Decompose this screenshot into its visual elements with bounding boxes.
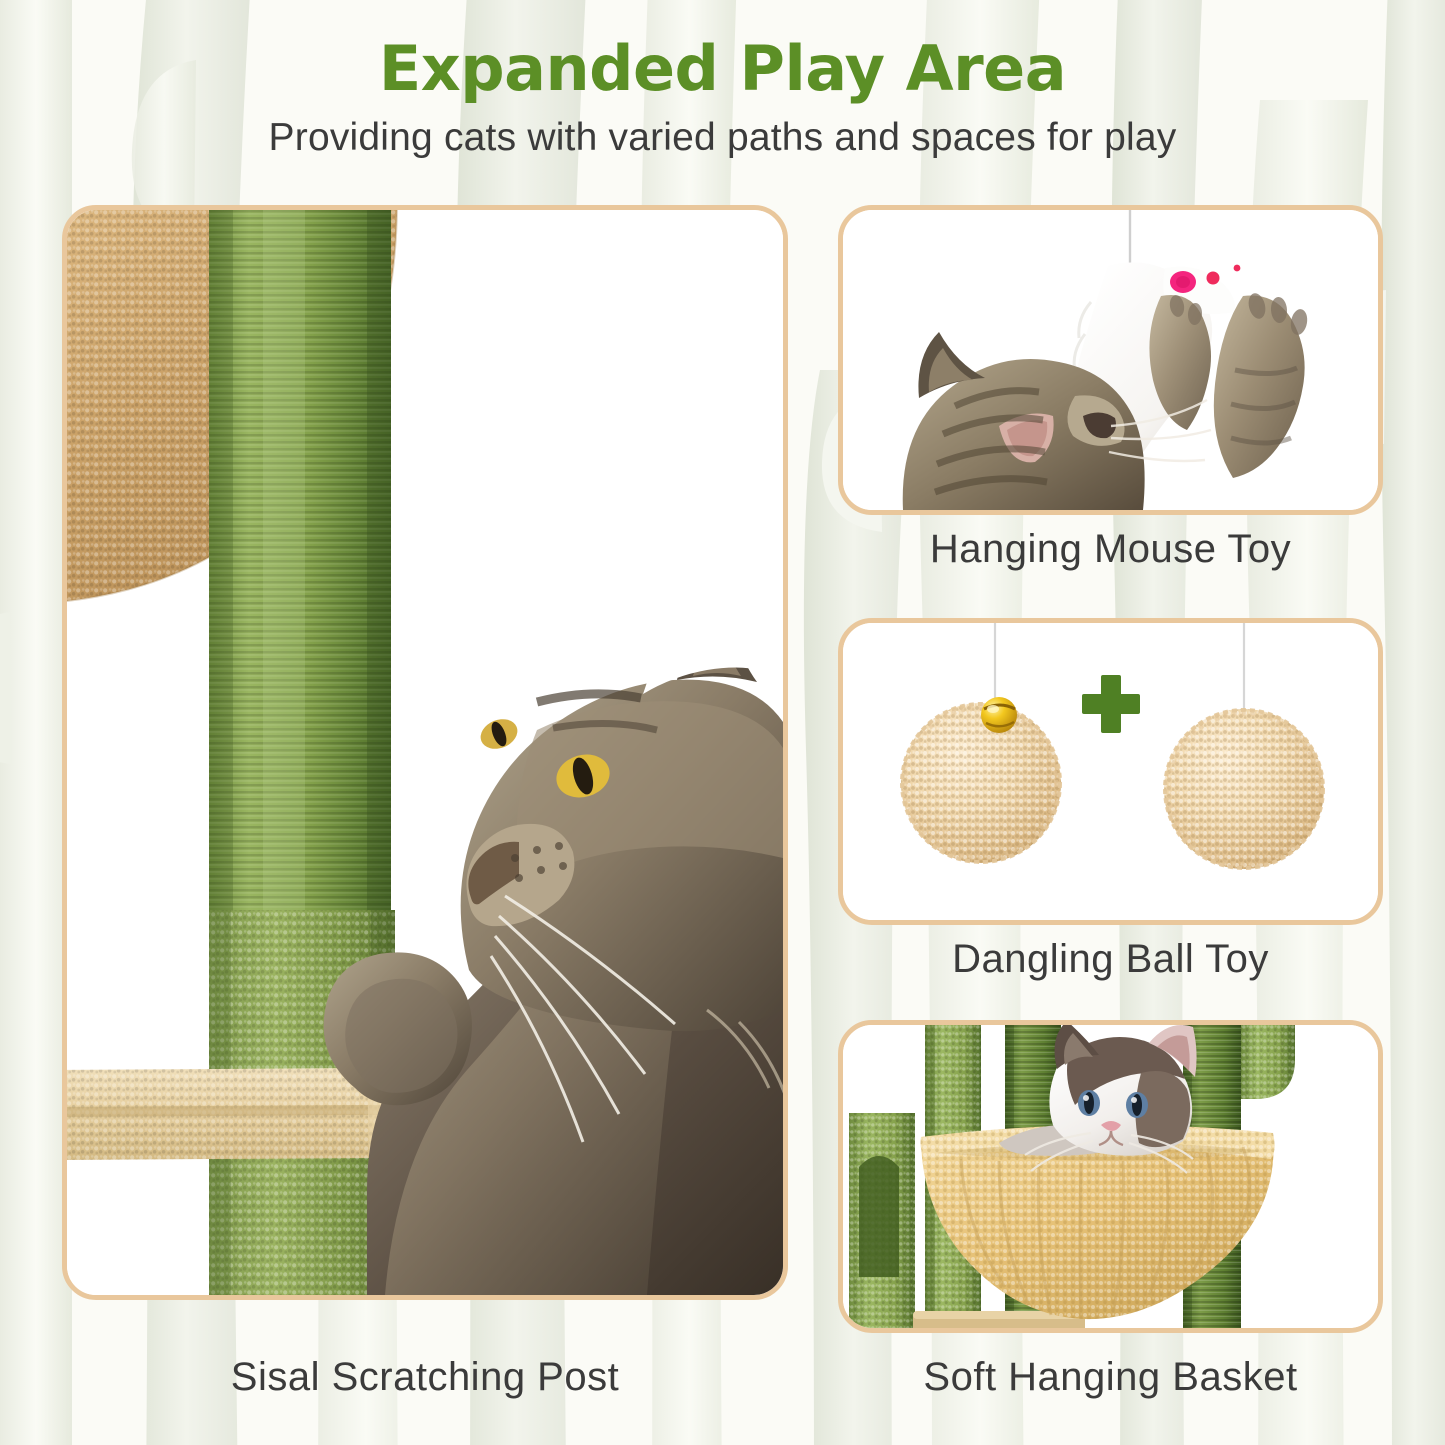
caption-soft-hanging-basket: Soft Hanging Basket xyxy=(838,1355,1383,1400)
caption-hanging-mouse-toy: Hanging Mouse Toy xyxy=(838,527,1383,572)
caption-dangling-ball-toy: Dangling Ball Toy xyxy=(838,937,1383,982)
scene-cat-batting-mouse-toy xyxy=(843,210,1378,510)
card-hanging-mouse-toy[interactable] xyxy=(838,205,1383,515)
caption-sisal-scratching-post: Sisal Scratching Post xyxy=(62,1355,788,1400)
scene-cat-hugging-sisal-post xyxy=(67,210,783,1295)
scene-two-dangling-plush-balls xyxy=(843,623,1378,920)
card-sisal-scratching-post[interactable] xyxy=(62,205,788,1300)
card-dangling-ball-toy[interactable] xyxy=(838,618,1383,925)
page-title: Expanded Play Area xyxy=(0,0,1445,101)
scene-cat-resting-in-hanging-basket xyxy=(843,1025,1378,1328)
card-soft-hanging-basket[interactable] xyxy=(838,1020,1383,1333)
header: Expanded Play Area Providing cats with v… xyxy=(0,0,1445,160)
page-subtitle: Providing cats with varied paths and spa… xyxy=(0,101,1445,160)
